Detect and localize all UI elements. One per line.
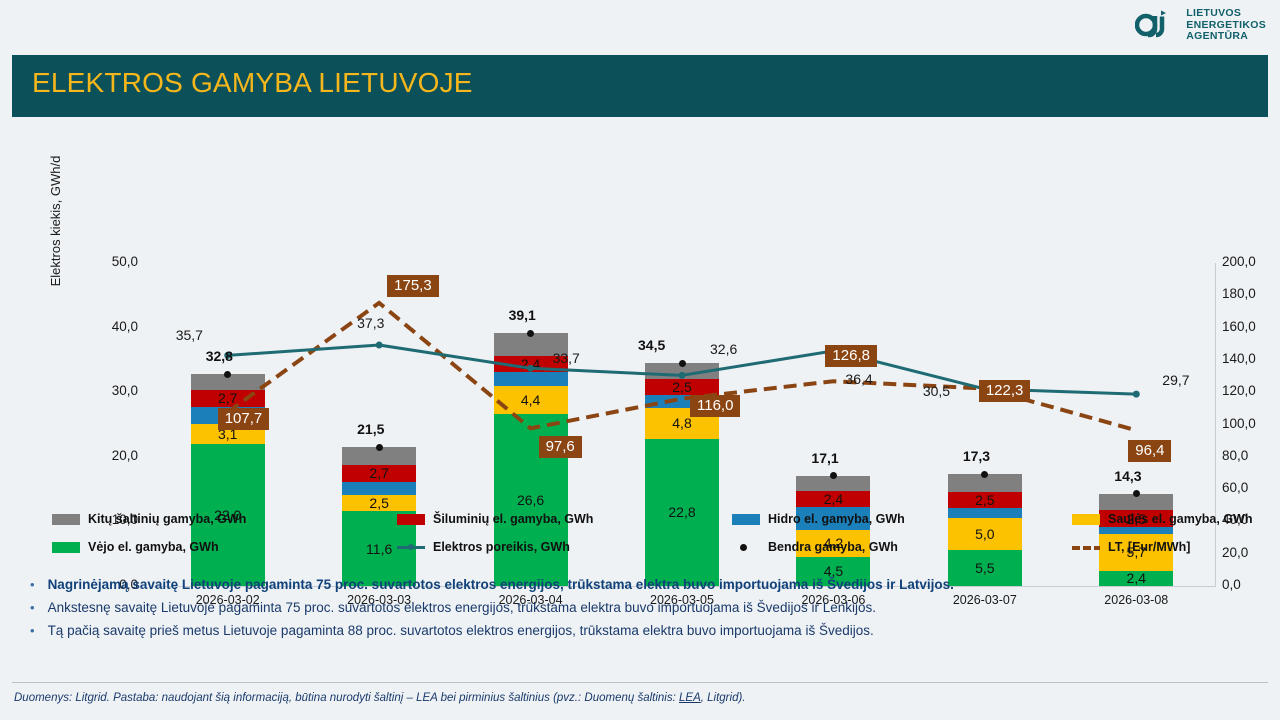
total-production-dot bbox=[376, 444, 383, 451]
legend-label: LT, [Eur/MWh] bbox=[1108, 540, 1190, 554]
y2-tick-label: 120,0 bbox=[1222, 383, 1276, 398]
bullet-text: Tą pačią savaitę prieš metus Lietuvoje p… bbox=[48, 622, 874, 640]
total-production-label: 34,5 bbox=[638, 337, 665, 353]
total-production-label: 39,1 bbox=[509, 307, 536, 323]
bullet-marker: • bbox=[30, 599, 35, 617]
footer-post: , Litgrid). bbox=[701, 692, 746, 704]
demand-value-label: 29,7 bbox=[1162, 372, 1189, 388]
y-axis-title: Elektros kiekis, GWh/d bbox=[48, 121, 63, 321]
lea-logo-text: LIETUVOS ENERGETIKOS AGENTŪRA bbox=[1186, 8, 1266, 43]
legend-label: Vėjo el. gamyba, GWh bbox=[88, 540, 219, 554]
legend-swatch-icon bbox=[397, 514, 425, 525]
logo-line-3: AGENTŪRA bbox=[1186, 31, 1266, 43]
page-title: ELEKTROS GAMYBA LIETUVOJE bbox=[32, 67, 473, 99]
legend-item[interactable]: Saulės el. gamyba, GWh bbox=[1072, 512, 1253, 526]
demand-marker bbox=[527, 365, 534, 372]
footer-divider bbox=[12, 682, 1268, 683]
legend-item[interactable]: Elektros poreikis, GWh bbox=[397, 540, 570, 554]
legend-label: Kitų šaltinių gamyba, GWh bbox=[88, 512, 246, 526]
y2-tick-label: 180,0 bbox=[1222, 286, 1276, 301]
bullet-text: Nagrinėjamą savaitę Lietuvoje pagaminta … bbox=[48, 576, 954, 594]
summary-bullets: •Nagrinėjamą savaitę Lietuvoje pagaminta… bbox=[12, 576, 1268, 676]
demand-marker bbox=[376, 342, 383, 349]
legend-dot-icon bbox=[732, 542, 760, 553]
price-value-label: 96,4 bbox=[1128, 440, 1171, 462]
legend-item[interactable]: Hidro el. gamyba, GWh bbox=[732, 512, 905, 526]
legend-item[interactable]: Bendra gamyba, GWh bbox=[732, 540, 898, 554]
y-tick-label: 40,0 bbox=[84, 319, 138, 334]
logo-line-1: LIETUVOS bbox=[1186, 8, 1266, 20]
bullet-marker: • bbox=[30, 576, 35, 594]
legend-swatch-icon bbox=[1072, 514, 1100, 525]
y2-tick-label: 200,0 bbox=[1222, 254, 1276, 269]
price-value-label: 175,3 bbox=[387, 275, 439, 297]
total-production-dot bbox=[224, 371, 231, 378]
source-footer: Duomenys: Litgrid. Pastaba: naudojant ši… bbox=[14, 692, 746, 704]
total-production-label: 14,3 bbox=[1114, 468, 1141, 484]
bullet-item: •Nagrinėjamą savaitę Lietuvoje pagaminta… bbox=[30, 576, 954, 594]
legend-label: Elektros poreikis, GWh bbox=[433, 540, 570, 554]
total-production-dot bbox=[527, 330, 534, 337]
demand-value-label: 36,4 bbox=[845, 371, 872, 387]
demand-marker bbox=[1133, 391, 1140, 398]
title-bar: ELEKTROS GAMYBA LIETUVOJE bbox=[12, 55, 1268, 117]
lea-logo-mark bbox=[1135, 8, 1179, 42]
demand-value-label: 30,5 bbox=[923, 383, 950, 399]
y2-tick-label: 80,0 bbox=[1222, 448, 1276, 463]
legend-label: Šiluminių el. gamyba, GWh bbox=[433, 512, 593, 526]
demand-marker bbox=[679, 372, 686, 379]
price-value-label: 97,6 bbox=[539, 436, 582, 458]
legend-swatch-icon bbox=[732, 514, 760, 525]
slide-root: LIETUVOS ENERGETIKOS AGENTŪRA ELEKTROS G… bbox=[0, 0, 1280, 720]
bullet-item: •Ankstesnę savaitę Lietuvoje pagaminta 7… bbox=[30, 599, 876, 617]
total-production-label: 32,8 bbox=[206, 348, 233, 364]
demand-value-label: 35,7 bbox=[176, 327, 203, 343]
bullet-text: Ankstesnę savaitę Lietuvoje pagaminta 75… bbox=[48, 599, 876, 617]
total-production-dot bbox=[679, 360, 686, 367]
y2-tick-label: 140,0 bbox=[1222, 351, 1276, 366]
total-production-label: 17,1 bbox=[811, 450, 838, 466]
y-tick-label: 30,0 bbox=[84, 383, 138, 398]
total-production-label: 21,5 bbox=[357, 421, 384, 437]
legend-label: Saulės el. gamyba, GWh bbox=[1108, 512, 1253, 526]
demand-value-label: 37,3 bbox=[357, 315, 384, 331]
legend-dashed-line-icon bbox=[1072, 542, 1100, 553]
price-value-label: 122,3 bbox=[979, 380, 1031, 402]
legend-swatch-icon bbox=[52, 542, 80, 553]
legend-item[interactable]: LT, [Eur/MWh] bbox=[1072, 540, 1190, 554]
y2-tick-label: 160,0 bbox=[1222, 319, 1276, 334]
total-production-label: 17,3 bbox=[963, 448, 990, 464]
demand-value-label: 33,7 bbox=[553, 350, 580, 366]
y-tick-label: 20,0 bbox=[84, 448, 138, 463]
y2-tick-label: 100,0 bbox=[1222, 416, 1276, 431]
legend-line-icon bbox=[397, 542, 425, 553]
y-tick-label: 50,0 bbox=[84, 254, 138, 269]
footer-pre: Duomenys: Litgrid. Pastaba: naudojant ši… bbox=[14, 692, 679, 704]
legend-label: Bendra gamyba, GWh bbox=[768, 540, 898, 554]
legend-item[interactable]: Kitų šaltinių gamyba, GWh bbox=[52, 512, 246, 526]
price-value-label: 107,7 bbox=[218, 408, 270, 430]
demand-value-label: 32,6 bbox=[710, 341, 737, 357]
legend-item[interactable]: Šiluminių el. gamyba, GWh bbox=[397, 512, 593, 526]
bullet-item: •Tą pačią savaitę prieš metus Lietuvoje … bbox=[30, 622, 874, 640]
bullet-marker: • bbox=[30, 622, 35, 640]
chart-panel: Elektros kiekis, GWh/d Kaina, EUR/MWh 0,… bbox=[12, 123, 1268, 570]
legend-swatch-icon bbox=[52, 514, 80, 525]
price-value-label: 126,8 bbox=[825, 345, 877, 367]
total-production-dot bbox=[1133, 490, 1140, 497]
footer-link[interactable]: LEA bbox=[679, 692, 701, 704]
chart-legend: Kitų šaltinių gamyba, GWhŠiluminių el. g… bbox=[12, 512, 1268, 568]
total-production-dot bbox=[830, 472, 837, 479]
y2-tick-label: 60,0 bbox=[1222, 480, 1276, 495]
legend-label: Hidro el. gamyba, GWh bbox=[768, 512, 905, 526]
price-value-label: 116,0 bbox=[690, 395, 740, 417]
lea-logo: LIETUVOS ENERGETIKOS AGENTŪRA bbox=[1135, 8, 1266, 43]
legend-item[interactable]: Vėjo el. gamyba, GWh bbox=[52, 540, 219, 554]
